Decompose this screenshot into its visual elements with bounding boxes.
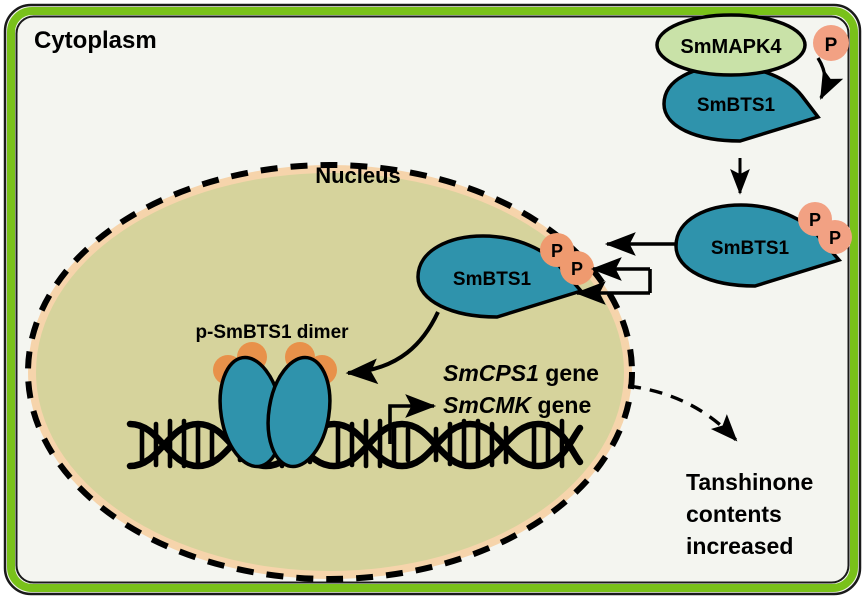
phosphate-label: P: [829, 228, 841, 248]
cyto-phospho-smbts1-label: SmBTS1: [711, 238, 790, 259]
phosphate-label: P: [571, 259, 583, 279]
figure-canvas: Cytoplasm Nucleus: [0, 0, 865, 599]
phosphate-label: P: [809, 210, 821, 230]
tanshinone-line-2: contents: [686, 501, 782, 527]
nuclear-smbts1-label: SmBTS1: [453, 269, 532, 290]
tanshinone-line-1: Tanshinone: [686, 469, 813, 495]
smmapk4-protein[interactable]: SmMAPK4: [657, 15, 805, 75]
cyto-smbts1-label: SmBTS1: [697, 95, 776, 116]
phosphate-label: P: [551, 241, 563, 261]
phosphate-label: P: [825, 35, 838, 56]
tanshinone-line-3: increased: [686, 533, 793, 559]
donor-phosphate: P: [813, 25, 849, 61]
smmapk4-label: SmMAPK4: [680, 36, 782, 58]
nucleus-label: Nucleus: [315, 163, 401, 188]
gene-smcmk: SmCMK gene: [443, 392, 591, 418]
pathway-diagram: Cytoplasm Nucleus: [0, 0, 865, 599]
gene-smcps1: SmCPS1 gene: [443, 360, 599, 386]
cytoplasm-label: Cytoplasm: [34, 27, 157, 54]
dimer-label: p-SmBTS1 dimer: [195, 322, 349, 343]
